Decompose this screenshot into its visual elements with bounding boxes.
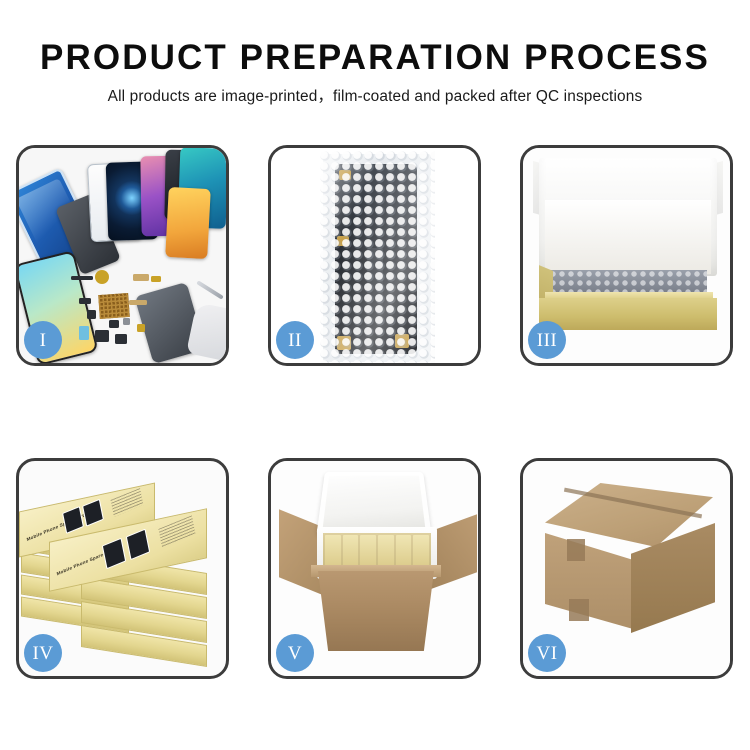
carton-tape-lower-icon: [569, 599, 589, 621]
step-badge-3: III: [528, 321, 566, 359]
process-step-panel-1[interactable]: I: [16, 145, 229, 366]
ic-chip-icon: [79, 298, 91, 304]
page-subtitle: All products are image-printed，film-coat…: [0, 87, 750, 107]
box-spec-lines: [158, 515, 195, 547]
ribbon-cable-icon: [129, 300, 147, 305]
carton-tape-upper-icon: [567, 539, 585, 561]
flex-cable-icon: [71, 276, 93, 280]
process-step-panel-4[interactable]: Mobile Phone Spare Parts Mobile Phone Sp…: [16, 458, 229, 679]
step-badge-2: II: [276, 321, 314, 359]
gold-contact-icon: [151, 276, 161, 282]
box-thumbnail-icon: [82, 499, 104, 527]
process-step-panel-3[interactable]: III: [520, 145, 733, 366]
gold-screw-icon: [137, 324, 145, 332]
button-part-icon: [109, 320, 119, 328]
yellow-box-front-icon: [539, 298, 717, 330]
step-badge-6: VI: [528, 634, 566, 672]
process-step-panel-5[interactable]: V: [268, 458, 481, 679]
box-spec-lines: [111, 488, 144, 517]
box-thumbnail-icon: [102, 538, 126, 570]
foam-pad-icon: [545, 200, 711, 274]
plastic-sheen-overlay: [319, 150, 435, 363]
process-step-panel-2[interactable]: II: [268, 145, 481, 366]
speaker-part-icon: [115, 334, 127, 344]
step-badge-5: V: [276, 634, 314, 672]
connector-icon: [133, 274, 149, 281]
foam-lid-icon: [316, 472, 431, 535]
process-step-grid: I II III: [16, 145, 734, 679]
step-badge-1: I: [24, 321, 62, 359]
screw-part-icon: [123, 318, 130, 325]
vibrator-part-icon: [95, 330, 109, 342]
small-chip-icon: [87, 310, 96, 319]
speaker-mesh-icon: [98, 293, 130, 319]
yellow-phone-icon: [165, 187, 211, 259]
battery-part-icon: [79, 326, 89, 340]
step-badge-4: IV: [24, 634, 62, 672]
process-step-panel-6[interactable]: VI: [520, 458, 733, 679]
camera-lens-icon: [95, 270, 109, 284]
box-thumbnail-icon: [62, 506, 84, 534]
box-thumbnail-icon: [126, 529, 150, 561]
page-header: PRODUCT PREPARATION PROCESS All products…: [0, 0, 750, 107]
carton-body-icon: [313, 571, 439, 651]
page-title: PRODUCT PREPARATION PROCESS: [0, 38, 750, 78]
